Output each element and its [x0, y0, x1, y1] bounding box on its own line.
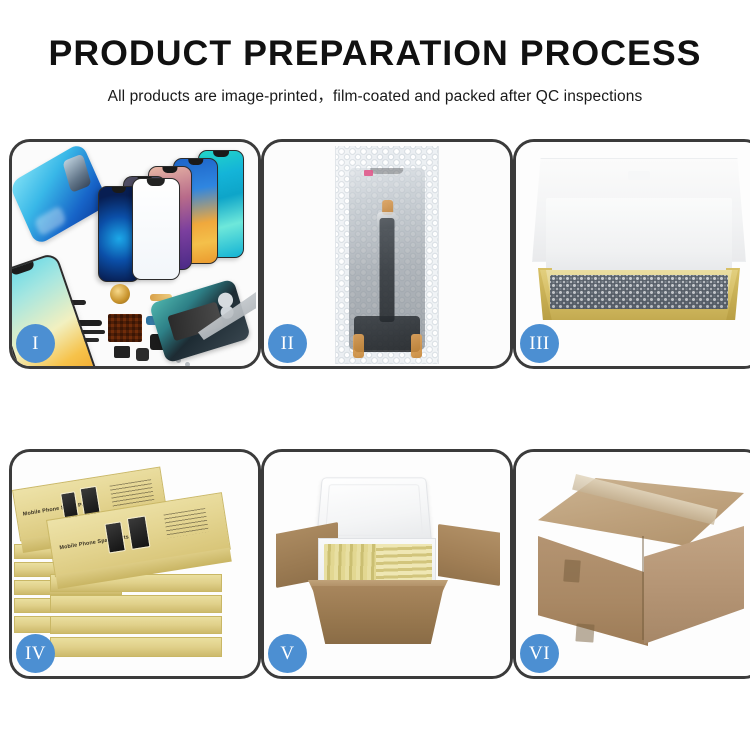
- box-window-2b: [127, 515, 151, 550]
- lid-tab-icon: [628, 171, 650, 180]
- header: PRODUCT PREPARATION PROCESS All products…: [0, 0, 750, 106]
- earpiece-icon: [114, 346, 130, 358]
- chip-array-icon: [108, 314, 142, 342]
- step-badge-5: V: [268, 634, 307, 673]
- steps-grid: I II: [9, 139, 741, 679]
- carton-flap-right-icon: [438, 524, 500, 586]
- button-module-icon: [136, 348, 149, 361]
- box-slab-r2: [50, 595, 222, 613]
- tape-tab-right-icon: [411, 334, 422, 358]
- step-panel-5: V: [261, 449, 513, 679]
- step-panel-6: VI: [513, 449, 750, 679]
- step-badge-4: IV: [16, 634, 55, 673]
- box-window-2a: [104, 521, 125, 553]
- bubble-wrap-bag-icon: [335, 146, 439, 364]
- step-badge-3: III: [520, 324, 559, 363]
- vibrator-coil-icon: [110, 284, 130, 304]
- step-badge-6: VI: [520, 634, 559, 673]
- tape-tab-left-icon: [353, 334, 364, 358]
- page-title: PRODUCT PREPARATION PROCESS: [0, 36, 750, 71]
- step-panel-4: Mobile Phone Spare Parts Mobile Phone Sp…: [9, 449, 261, 679]
- product-preparation-infographic: PRODUCT PREPARATION PROCESS All products…: [0, 0, 750, 750]
- step-panel-2: II: [261, 139, 513, 369]
- phone-fan-group: [80, 152, 240, 272]
- step-badge-1: I: [16, 324, 55, 363]
- carton-right-face-icon: [644, 526, 744, 644]
- carton-tab-lower-icon: [575, 623, 594, 642]
- qc-sticker-icon: [364, 170, 373, 176]
- carton-front-icon: [312, 586, 444, 644]
- tempered-glass-icon: [132, 178, 180, 280]
- step-panel-3: III: [513, 139, 750, 369]
- bubble-sheet-icon: [550, 275, 728, 309]
- carton-tab-upper-icon: [563, 559, 580, 582]
- step-panel-1: I: [9, 139, 261, 369]
- white-foam-sheet-icon: [546, 198, 732, 274]
- page-subtitle: All products are image-printed，film-coat…: [0, 84, 750, 106]
- box-slab-r3: [50, 616, 222, 634]
- step-badge-2: II: [268, 324, 307, 363]
- center-flex-cable-icon: [380, 218, 395, 322]
- carton-corner-seam-icon: [642, 536, 644, 640]
- box-slab-r4: [50, 637, 222, 657]
- box-spec-lines-2: [164, 508, 209, 538]
